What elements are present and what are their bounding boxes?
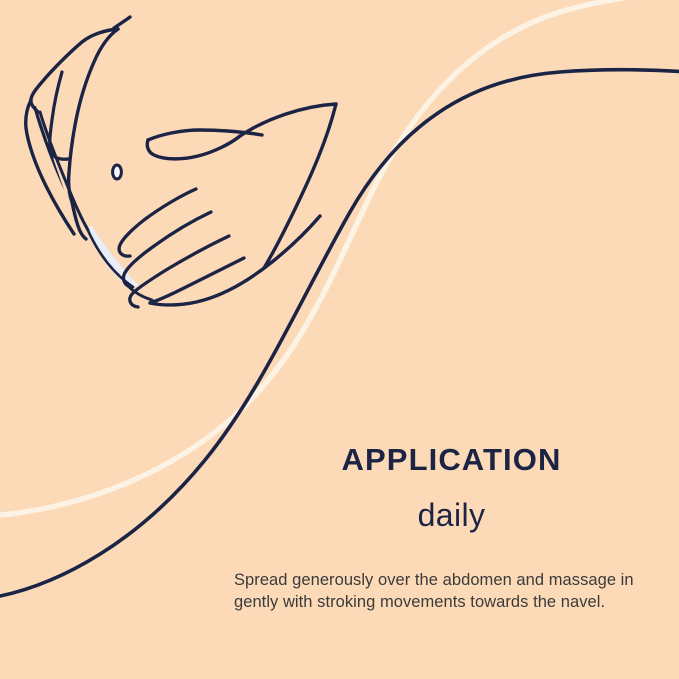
frequency-label: daily [0,498,679,533]
instructions-paragraph: Spread generously over the abdomen and m… [234,570,644,614]
poster-canvas: APPLICATION daily Spread generously over… [0,0,679,679]
text-block: APPLICATION daily Spread generously over… [0,0,679,679]
page-title: APPLICATION [0,444,679,475]
